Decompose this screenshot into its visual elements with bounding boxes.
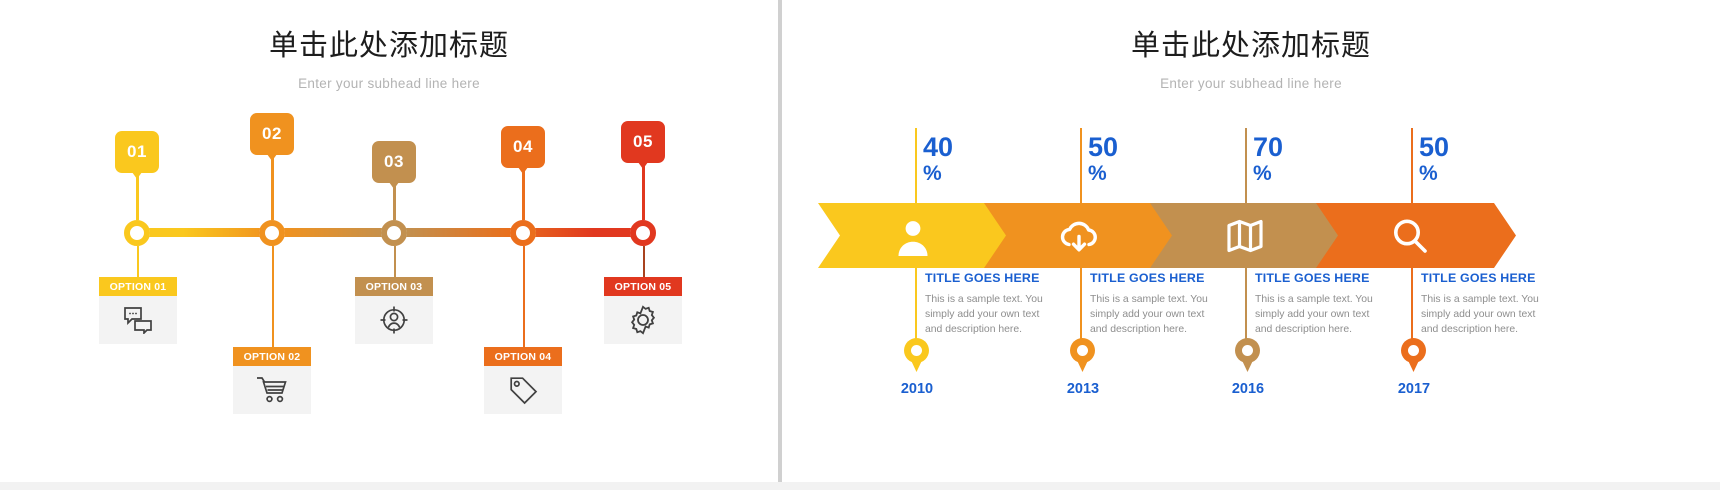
info-block-3: TITLE GOES HERE This is a sample text. Y… xyxy=(1255,271,1387,337)
slide-left: 单击此处添加标题 Enter your subhead line here 01… xyxy=(0,0,778,490)
percentage-value: 50 xyxy=(1088,134,1180,161)
option-icon-box-01 xyxy=(99,296,177,344)
option-label-01: OPTION 01 xyxy=(99,277,177,296)
connector-stem-02 xyxy=(271,150,274,228)
year-label-3: 2016 xyxy=(1202,381,1294,397)
option-card-03[interactable]: OPTION 03 xyxy=(355,277,433,344)
chevron-segment-3[interactable] xyxy=(1150,203,1340,268)
option-card-02[interactable]: OPTION 02 xyxy=(233,347,311,414)
block-heading-3: TITLE GOES HERE xyxy=(1255,271,1387,285)
timeline-node-04[interactable] xyxy=(510,220,536,246)
year-label-2: 2013 xyxy=(1037,381,1129,397)
info-block-2: TITLE GOES HERE This is a sample text. Y… xyxy=(1090,271,1222,337)
chat-bubbles-icon xyxy=(123,306,153,334)
page-subtitle-left: Enter your subhead line here xyxy=(0,76,778,91)
pin-hole xyxy=(1242,345,1253,356)
timeline-number-label: 05 xyxy=(633,132,653,152)
year-label-1: 2010 xyxy=(871,381,963,397)
info-block-4: TITLE GOES HERE This is a sample text. Y… xyxy=(1421,271,1553,337)
pin-hole xyxy=(1077,345,1088,356)
option-icon-box-05 xyxy=(604,296,682,344)
year-label-4: 2017 xyxy=(1368,381,1460,397)
block-body-4: This is a sample text. You simply add yo… xyxy=(1421,293,1553,337)
percentage-suffix: % xyxy=(1419,163,1511,184)
percentage-3: 70 % xyxy=(1253,134,1345,184)
option-label-04: OPTION 04 xyxy=(484,347,562,366)
percentage-4: 50 % xyxy=(1419,134,1511,184)
page-title-right: 单击此处添加标题 xyxy=(782,22,1720,64)
connector-stem-down-03 xyxy=(394,246,396,278)
pct-rule-1 xyxy=(915,128,917,206)
map-pin-2[interactable] xyxy=(1070,338,1095,372)
block-heading-1: TITLE GOES HERE xyxy=(925,271,1057,285)
slide-right: 单击此处添加标题 Enter your subhead line here 40… xyxy=(782,0,1720,490)
map-pin-3[interactable] xyxy=(1235,338,1260,372)
person-icon xyxy=(818,203,1008,268)
chevron-segment-1[interactable] xyxy=(818,203,1008,268)
text-rule-2 xyxy=(1080,268,1082,342)
timeline-number-04[interactable]: 04 xyxy=(501,126,545,168)
block-body-1: This is a sample text. You simply add yo… xyxy=(925,293,1057,337)
connector-stem-down-05 xyxy=(643,246,645,278)
option-card-05[interactable]: OPTION 05 xyxy=(604,277,682,344)
block-body-2: This is a sample text. You simply add yo… xyxy=(1090,293,1222,337)
target-person-icon xyxy=(379,305,409,335)
timeline-number-02[interactable]: 02 xyxy=(250,113,294,155)
pct-rule-4 xyxy=(1411,128,1413,206)
footer-strip xyxy=(0,482,1720,490)
percentage-1: 40 % xyxy=(923,134,1015,184)
timeline-number-05[interactable]: 05 xyxy=(621,121,665,163)
option-icon-box-04 xyxy=(484,366,562,414)
option-label-03: OPTION 03 xyxy=(355,277,433,296)
page-subtitle-right: Enter your subhead line here xyxy=(782,76,1720,91)
pct-rule-3 xyxy=(1245,128,1247,206)
timeline-number-01[interactable]: 01 xyxy=(115,131,159,173)
option-icon-box-02 xyxy=(233,366,311,414)
option-icon-box-03 xyxy=(355,296,433,344)
timeline-node-02[interactable] xyxy=(259,220,285,246)
timeline-number-label: 02 xyxy=(262,124,282,144)
pct-rule-2 xyxy=(1080,128,1082,206)
connector-stem-down-01 xyxy=(137,246,139,278)
option-card-01[interactable]: OPTION 01 xyxy=(99,277,177,344)
option-label-02: OPTION 02 xyxy=(233,347,311,366)
text-rule-3 xyxy=(1245,268,1247,342)
block-heading-4: TITLE GOES HERE xyxy=(1421,271,1553,285)
percentage-suffix: % xyxy=(1088,163,1180,184)
timeline-node-01[interactable] xyxy=(124,220,150,246)
option-card-04[interactable]: OPTION 04 xyxy=(484,347,562,414)
text-rule-4 xyxy=(1411,268,1413,342)
map-pin-4[interactable] xyxy=(1401,338,1426,372)
chevron-segment-4[interactable] xyxy=(1316,203,1516,268)
block-body-3: This is a sample text. You simply add yo… xyxy=(1255,293,1387,337)
timeline-number-label: 01 xyxy=(127,142,147,162)
timeline-node-03[interactable] xyxy=(381,220,407,246)
info-block-1: TITLE GOES HERE This is a sample text. Y… xyxy=(925,271,1057,337)
pin-hole xyxy=(1408,345,1419,356)
pin-hole xyxy=(911,345,922,356)
search-icon xyxy=(1310,203,1510,268)
slide-canvas: 单击此处添加标题 Enter your subhead line here 01… xyxy=(0,0,1720,490)
gear-icon xyxy=(628,305,658,335)
timeline-node-05[interactable] xyxy=(630,220,656,246)
option-label-05: OPTION 05 xyxy=(604,277,682,296)
timeline-number-03[interactable]: 03 xyxy=(372,141,416,183)
chevron-segment-2[interactable] xyxy=(984,203,1174,268)
percentage-value: 40 xyxy=(923,134,1015,161)
shopping-cart-icon xyxy=(256,376,288,404)
connector-stem-down-04 xyxy=(523,246,525,347)
percentage-suffix: % xyxy=(1253,163,1345,184)
percentage-suffix: % xyxy=(923,163,1015,184)
percentage-value: 70 xyxy=(1253,134,1345,161)
timeline-number-label: 03 xyxy=(384,152,404,172)
percentage-2: 50 % xyxy=(1088,134,1180,184)
cloud-download-icon xyxy=(984,203,1174,268)
block-heading-2: TITLE GOES HERE xyxy=(1090,271,1222,285)
map-pin-1[interactable] xyxy=(904,338,929,372)
connector-stem-down-02 xyxy=(272,246,274,347)
map-icon xyxy=(1150,203,1340,268)
price-tag-icon xyxy=(508,375,538,405)
percentage-value: 50 xyxy=(1419,134,1511,161)
page-title-left: 单击此处添加标题 xyxy=(0,22,778,64)
text-rule-1 xyxy=(915,268,917,342)
connector-stem-05 xyxy=(642,158,645,228)
timeline-number-label: 04 xyxy=(513,137,533,157)
